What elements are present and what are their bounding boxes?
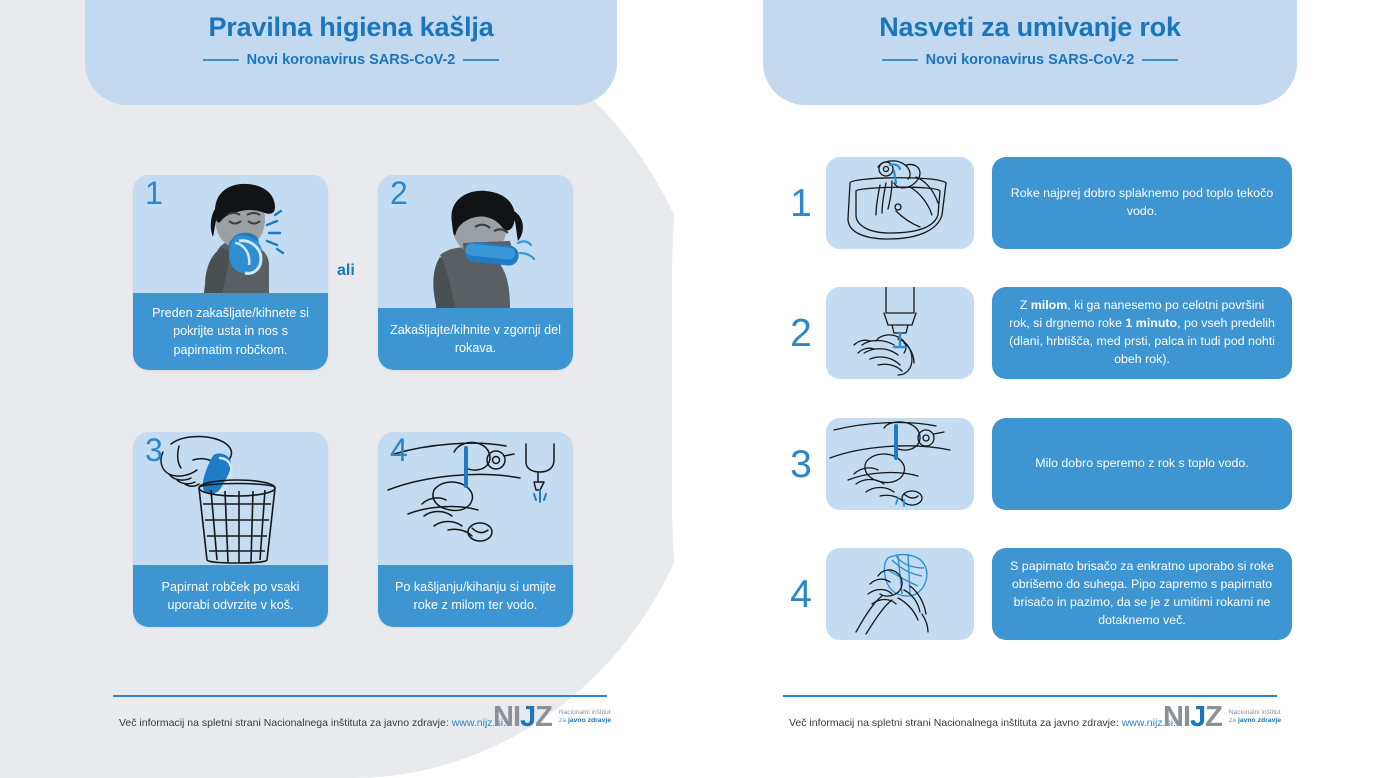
logo-line-2: za javno zdravje: [1229, 717, 1281, 725]
logo-line-2: za javno zdravje: [559, 717, 611, 725]
right-poster-banner: Nasveti za umivanje rok Novi koronavirus…: [763, 0, 1297, 105]
right-poster: Nasveti za umivanje rok Novi koronavirus…: [700, 0, 1380, 778]
logo-line-2-prefix: za: [559, 717, 568, 724]
drying-hands-with-paper-towel-icon: [826, 548, 974, 640]
logo-line-2-prefix: za: [1229, 717, 1238, 724]
soap-dispenser-on-hands-icon: [826, 287, 974, 379]
logo-line-1: Nacionalni inštitut: [1229, 709, 1281, 717]
left-card-3-caption: Papirnat robček po vsaki uporabi odvrzit…: [133, 565, 328, 627]
nijz-logo: NIJZ Nacionalni inštitut za javno zdravj…: [1163, 703, 1281, 732]
footer-divider: [113, 695, 607, 697]
right-step-2[interactable]: 2: [780, 287, 1292, 379]
right-step-1-number: 1: [780, 184, 822, 223]
right-footer: Več informacij na spletni strani Naciona…: [783, 695, 1283, 755]
rule-right-icon: [1142, 59, 1178, 61]
right-step-4[interactable]: 4: [780, 548, 1292, 640]
left-card-3-number: 3: [145, 434, 163, 466]
left-footer-label: Več informacij na spletni strani Naciona…: [119, 717, 452, 729]
logo-letter-n: N: [1163, 701, 1183, 733]
rule-left-icon: [203, 59, 239, 61]
right-poster-subtitle-row: Novi koronavirus SARS-CoV-2: [882, 52, 1179, 68]
left-card-3[interactable]: 3 Papirnat robček po vsaki uporabi odvrz…: [133, 432, 328, 627]
right-step-3-text: Milo dobro speremo z rok s toplo vodo.: [992, 418, 1292, 510]
left-card-2-caption: Zakašljajte/kihnite v zgornji del rokava…: [378, 308, 573, 370]
logo-line-1: Nacionalni inštitut: [559, 709, 611, 717]
rule-left-icon: [882, 59, 918, 61]
left-poster: Pravilna higiena kašlja Novi koronavirus…: [0, 0, 700, 778]
left-poster-title: Pravilna higiena kašlja: [208, 12, 493, 43]
left-poster-subtitle: Novi koronavirus SARS-CoV-2: [247, 52, 456, 68]
logo-letter-i: I: [513, 701, 520, 733]
left-card-1[interactable]: 1 Preden zakašljate/kihnete si pokrijte …: [133, 175, 328, 370]
rinsing-soap-off-hands-icon: [826, 418, 974, 510]
left-card-1-caption: Preden zakašljate/kihnete si pokrijte us…: [133, 293, 328, 370]
right-step-4-number: 4: [780, 575, 822, 614]
left-card-2[interactable]: 2 Zakašljajte/kihnite v zgornji del roka…: [378, 175, 573, 370]
right-step-1[interactable]: 1: [780, 157, 1292, 249]
left-card-4[interactable]: 4 Po kašljanju/kihanju si umijte roke z …: [378, 432, 573, 627]
right-poster-subtitle: Novi koronavirus SARS-CoV-2: [926, 52, 1135, 68]
nijz-logo-mark: NIJZ: [493, 703, 552, 732]
logo-line-2-main: javno zdravje: [568, 717, 611, 724]
logo-letter-n: N: [493, 701, 513, 733]
left-card-4-number: 4: [390, 434, 408, 466]
left-poster-banner: Pravilna higiena kašlja Novi koronavirus…: [85, 0, 617, 105]
nijz-logo-text: Nacionalni inštitut za javno zdravje: [559, 709, 611, 726]
right-step-1-text: Roke najprej dobro splaknemo pod toplo t…: [992, 157, 1292, 249]
connector-label: ali: [337, 262, 355, 280]
logo-letter-i: I: [1183, 701, 1190, 733]
right-step-2-rich-text: Z milom, ki ga nanesemo po celotni površ…: [1008, 297, 1276, 369]
left-footer-text: Več informacij na spletni strani Naciona…: [119, 717, 506, 729]
nijz-logo-text: Nacionalni inštitut za javno zdravje: [1229, 709, 1281, 726]
rule-right-icon: [463, 59, 499, 61]
right-step-3-number: 3: [780, 445, 822, 484]
logo-letter-z: Z: [535, 701, 552, 733]
footer-divider: [783, 695, 1277, 697]
left-card-2-number: 2: [390, 177, 408, 209]
right-step-4-text: S papirnato brisačo za enkratno uporabo …: [992, 548, 1292, 640]
logo-letter-j: J: [520, 701, 535, 733]
left-poster-subtitle-row: Novi koronavirus SARS-CoV-2: [203, 52, 500, 68]
right-step-3[interactable]: 3: [780, 418, 1292, 510]
left-card-1-number: 1: [145, 177, 163, 209]
logo-line-2-main: javno zdravje: [1238, 717, 1281, 724]
right-footer-text: Več informacij na spletni strani Naciona…: [789, 717, 1176, 729]
logo-letter-z: Z: [1205, 701, 1222, 733]
nijz-logo: NIJZ Nacionalni inštitut za javno zdravj…: [493, 703, 611, 732]
right-step-2-number: 2: [780, 314, 822, 353]
left-footer: Več informacij na spletni strani Naciona…: [113, 695, 613, 755]
nijz-logo-mark: NIJZ: [1163, 703, 1222, 732]
infographic-page: Pravilna higiena kašlja Novi koronavirus…: [0, 0, 1380, 778]
right-step-2-text: Z milom, ki ga nanesemo po celotni površ…: [992, 287, 1292, 379]
left-card-4-caption: Po kašljanju/kihanju si umijte roke z mi…: [378, 565, 573, 627]
rinsing-hands-at-sink-icon: [826, 157, 974, 249]
right-poster-title: Nasveti za umivanje rok: [879, 12, 1181, 43]
logo-letter-j: J: [1190, 701, 1205, 733]
right-footer-label: Več informacij na spletni strani Naciona…: [789, 717, 1122, 729]
